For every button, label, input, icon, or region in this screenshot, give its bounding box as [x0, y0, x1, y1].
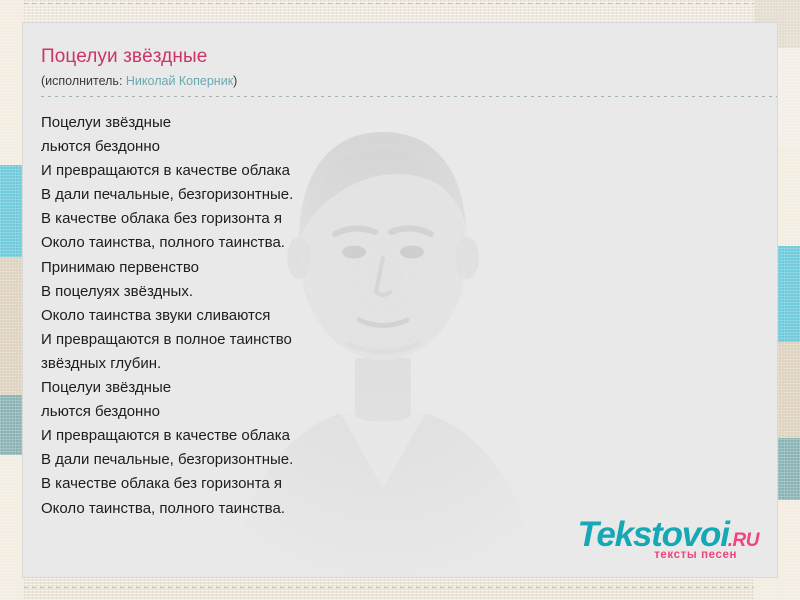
lyric-line: И превращаются в качестве облака — [41, 424, 759, 448]
lyric-line: льются бездонно — [41, 135, 759, 159]
artist-link[interactable]: Николай Коперник — [126, 74, 233, 88]
lyric-line: В дали печальные, безгоризонтные. — [41, 183, 759, 207]
lyric-line: звёздных глубин. — [41, 352, 759, 376]
lyric-line: Поцелуи звёздные — [41, 111, 759, 135]
logo-main-text: Tekstovoi — [577, 515, 728, 554]
lyrics-body: Поцелуи звёздныельются бездонноИ превращ… — [41, 111, 759, 521]
logo-wordmark: Tekstovoi.RU — [577, 517, 759, 552]
artist-suffix-label: ) — [233, 74, 237, 88]
decor-strip-block — [0, 0, 24, 165]
header-divider — [41, 96, 778, 97]
page-bottom-dashed-rule — [0, 587, 800, 588]
page-top-dashed-rule — [0, 3, 800, 4]
artist-line: (исполнитель: Николай Коперник) — [41, 73, 759, 89]
lyric-line: льются бездонно — [41, 400, 759, 424]
decor-strip-block — [0, 165, 24, 257]
lyric-line: Принимаю первенство — [41, 256, 759, 280]
lyric-line: В дали печальные, безгоризонтные. — [41, 448, 759, 472]
lyric-line: В поцелуях звёздных. — [41, 280, 759, 304]
lyrics-card: Поцелуи звёздные (исполнитель: Николай К… — [22, 22, 778, 578]
logo-tld-text: .RU — [728, 530, 759, 551]
lyric-line: В качестве облака без горизонта я — [41, 207, 759, 231]
site-logo[interactable]: Tekstovoi.RU тексты песен — [577, 517, 759, 562]
lyric-line: И превращаются в качестве облака — [41, 159, 759, 183]
lyric-line: И превращаются в полное таинство — [41, 328, 759, 352]
artist-prefix-label: (исполнитель: — [41, 74, 126, 88]
lyric-line: Около таинства, полного таинства. — [41, 231, 759, 255]
lyric-line: Около таинства звуки сливаются — [41, 304, 759, 328]
decor-strip-block — [0, 455, 24, 600]
page-background: Поцелуи звёздные (исполнитель: Николай К… — [0, 0, 800, 600]
lyric-line: Поцелуи звёздные — [41, 376, 759, 400]
lyric-line: В качестве облака без горизонта я — [41, 472, 759, 496]
left-decorative-strip — [0, 0, 24, 600]
decor-strip-block — [0, 395, 24, 455]
page-title: Поцелуи звёздные — [41, 45, 759, 69]
decor-strip-block — [0, 257, 24, 395]
